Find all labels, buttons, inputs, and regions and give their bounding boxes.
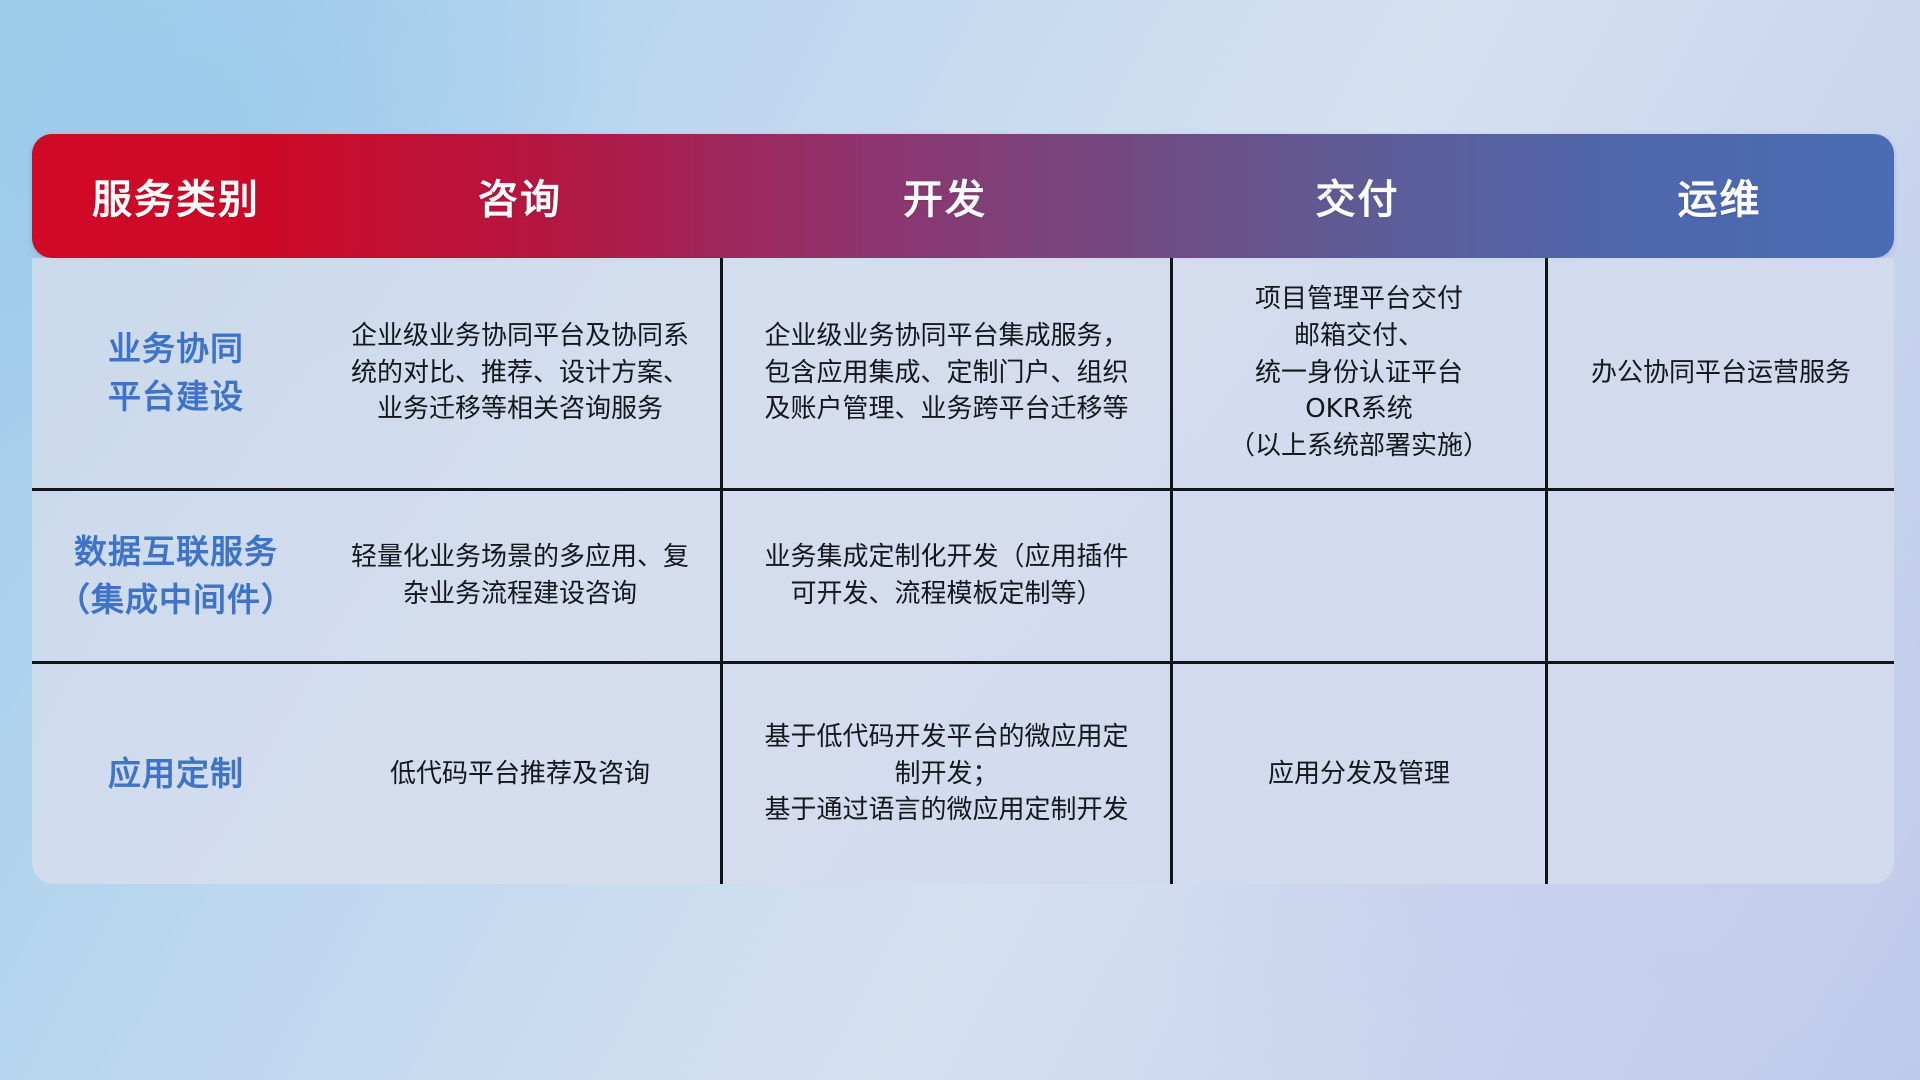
cell-delivery [1170,491,1545,661]
cell-operations [1545,664,1894,884]
cell-development: 基于低代码开发平台的微应用定 制开发； 基于通过语言的微应用定制开发 [720,664,1170,884]
table-body: 业务协同 平台建设 企业级业务协同平台及协同系 统的对比、推荐、设计方案、 业务… [32,258,1894,884]
category-text: 应用定制 [108,750,244,798]
column-header-service-category: 服务类别 [32,134,320,258]
cell-delivery: 项目管理平台交付 邮箱交付、 统一身份认证平台 OKR系统 （以上系统部署实施） [1170,258,1545,488]
cell-development: 业务集成定制化开发（应用插件 可开发、流程模板定制等） [720,491,1170,661]
cell-operations: 办公协同平台运营服务 [1545,258,1894,488]
cell-consulting: 企业级业务协同平台及协同系 统的对比、推荐、设计方案、 业务迁移等相关咨询服务 [320,258,720,488]
table-row: 业务协同 平台建设 企业级业务协同平台及协同系 统的对比、推荐、设计方案、 业务… [32,258,1894,491]
column-header-development: 开发 [720,134,1170,258]
service-matrix-table: 服务类别 咨询 开发 交付 运维 业务协同 平台建设 企业级业务协同平台及协同系… [32,134,1894,884]
table-row: 应用定制 低代码平台推荐及咨询 基于低代码开发平台的微应用定 制开发； 基于通过… [32,664,1894,884]
cell-consulting: 轻量化业务场景的多应用、复 杂业务流程建设咨询 [320,491,720,661]
category-text: 业务协同 平台建设 [108,325,244,421]
column-header-operations: 运维 [1545,134,1894,258]
table-header-row: 服务类别 咨询 开发 交付 运维 [32,134,1894,258]
table-row: 数据互联服务 （集成中间件） 轻量化业务场景的多应用、复 杂业务流程建设咨询 业… [32,491,1894,664]
cell-delivery: 应用分发及管理 [1170,664,1545,884]
cell-consulting: 低代码平台推荐及咨询 [320,664,720,884]
cell-development: 企业级业务协同平台集成服务， 包含应用集成、定制门户、组织 及账户管理、业务跨平… [720,258,1170,488]
cell-operations [1545,491,1894,661]
row-category-label: 数据互联服务 （集成中间件） [32,491,320,661]
row-category-label: 业务协同 平台建设 [32,258,320,488]
category-text: 数据互联服务 （集成中间件） [57,528,295,624]
row-category-label: 应用定制 [32,664,320,884]
slide-canvas: 服务类别 咨询 开发 交付 运维 业务协同 平台建设 企业级业务协同平台及协同系… [0,0,1920,1080]
column-header-consulting: 咨询 [320,134,720,258]
column-header-delivery: 交付 [1170,134,1545,258]
